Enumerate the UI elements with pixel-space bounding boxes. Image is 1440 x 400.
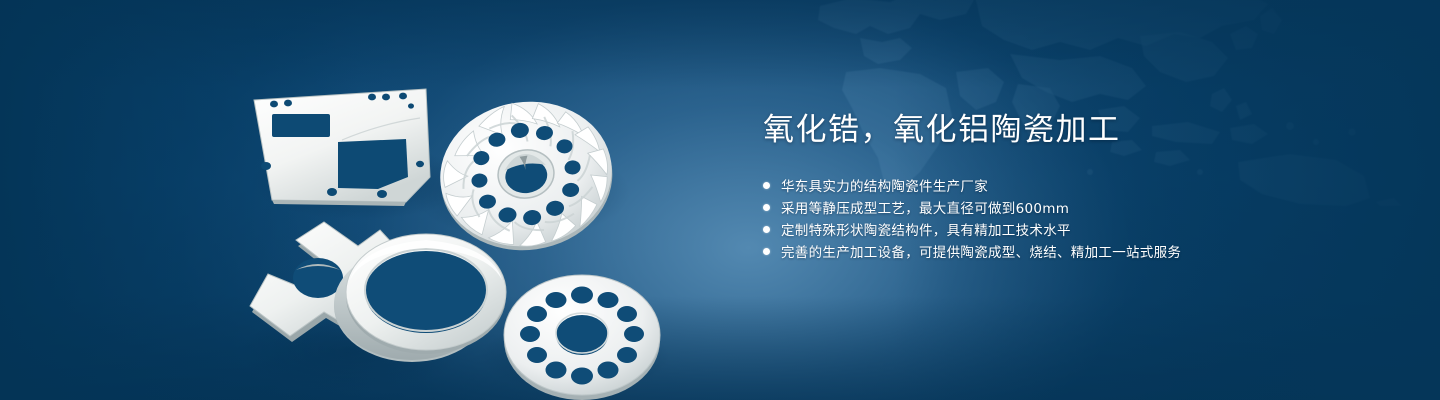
list-item: 采用等静压成型工艺，最大直径可做到600mm: [763, 196, 1323, 218]
bullet-dot-icon: [763, 182, 770, 189]
list-item: 华东具实力的结构陶瓷件生产厂家: [763, 174, 1323, 196]
ceramic-products-photo: [230, 42, 710, 382]
list-item: 完善的生产加工设备，可提供陶瓷成型、烧结、精加工一站式服务: [763, 240, 1323, 262]
banner-copy: 氧化锆，氧化铝陶瓷加工 华东具实力的结构陶瓷件生产厂家 采用等静压成型工艺，最大…: [763, 108, 1323, 262]
ceramic-machined-plate: [254, 89, 430, 206]
hero-banner: 氧化锆，氧化铝陶瓷加工 华东具实力的结构陶瓷件生产厂家 采用等静压成型工艺，最大…: [0, 0, 1440, 400]
feature-text: 华东具实力的结构陶瓷件生产厂家: [781, 175, 988, 195]
feature-text: 完善的生产加工设备，可提供陶瓷成型、烧结、精加工一站式服务: [781, 241, 1181, 261]
list-item: 定制特殊形状陶瓷结构件，具有精加工技术水平: [763, 218, 1323, 240]
page-title: 氧化锆，氧化铝陶瓷加工: [763, 108, 1323, 152]
ceramic-perforated-disc: [504, 275, 660, 400]
bullet-dot-icon: [763, 226, 770, 233]
bullet-dot-icon: [763, 204, 770, 211]
feature-text: 采用等静压成型工艺，最大直径可做到600mm: [781, 197, 1069, 217]
feature-text: 定制特殊形状陶瓷结构件，具有精加工技术水平: [781, 219, 1071, 239]
bullet-dot-icon: [763, 248, 770, 255]
ceramic-impeller-disc: [431, 91, 622, 261]
feature-list: 华东具实力的结构陶瓷件生产厂家 采用等静压成型工艺，最大直径可做到600mm 定…: [763, 174, 1323, 262]
